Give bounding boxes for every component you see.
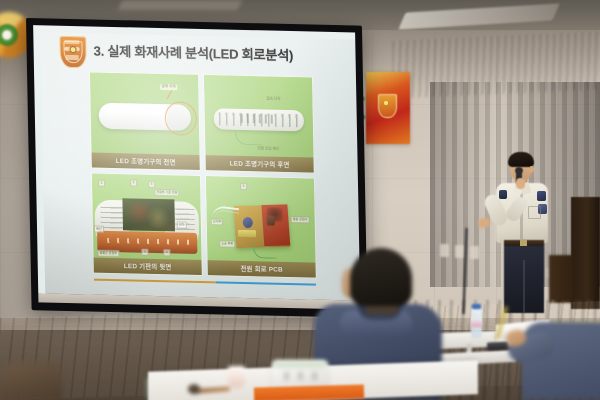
- annotation-label: 배선: [94, 226, 104, 233]
- annotation-label: 단자부: [211, 218, 224, 225]
- annotation-leader-line: [253, 243, 276, 259]
- annotation-label: 용융흔 관찰부: [97, 250, 119, 257]
- small-object: [188, 384, 200, 394]
- shirt-pocket: [528, 206, 541, 219]
- panel-caption: LED 조명기구의 후면: [230, 159, 290, 169]
- annotation-label: 소손 부위: [219, 240, 235, 247]
- panel-caption-bar: LED 조명기구의 전면: [92, 153, 200, 170]
- bottle-cap: [472, 304, 481, 309]
- slide-panel-grid: 발화 부위 LED 조명기구의 전면 접속 단자 전원 인입 배선: [90, 72, 316, 277]
- presenter-hair: [508, 152, 534, 167]
- annotation-label: 단자: [177, 221, 187, 228]
- audience-hair: [350, 248, 412, 306]
- presenter: [488, 148, 566, 313]
- fire-service-shield-emblem-icon: [59, 36, 85, 67]
- panel-caption: 전원 회로 PCB: [240, 264, 283, 274]
- belt-buckle-icon: [520, 240, 527, 246]
- dark-device: [487, 341, 509, 350]
- slide-panel: ① ② ③ 전원부 기판 연결 배선 단자 ④ ⑤ 용융흔 관찰부 LED 기판…: [92, 174, 202, 276]
- wall-switch-plate: [470, 246, 479, 259]
- annotation-label: ④: [141, 249, 148, 256]
- side-cabinet: [571, 197, 600, 309]
- orange-folder: [254, 384, 364, 400]
- banner-shield-emblem-dot-icon: [384, 101, 388, 105]
- panel-caption: LED 기판의 뒷면: [124, 261, 172, 271]
- presenter-left-hand: [516, 178, 525, 189]
- paper-cup: [228, 366, 245, 388]
- tissue-box-pattern: [284, 372, 318, 380]
- annotation-label: 접속 단자: [266, 96, 280, 101]
- microphone-head-icon: [515, 167, 523, 174]
- annotation-label: ①: [240, 183, 247, 190]
- annotation-label: ①: [98, 180, 105, 187]
- slide-title: 3. 실제 화재사례 분석(LED 회로분석): [93, 41, 343, 66]
- shoulder-patch-icon: [499, 190, 507, 199]
- panel-caption-bar: LED 조명기구의 후면: [206, 155, 314, 172]
- panel-caption-bar: LED 기판의 뒷면: [94, 258, 202, 275]
- banner-shield-icon: [378, 94, 397, 118]
- annotation-label: ⑤: [163, 249, 170, 256]
- bottle-label: [471, 318, 482, 327]
- annotation-label: ③: [148, 181, 155, 188]
- annotation-label: 평활 콘덴서: [291, 216, 310, 223]
- component-yellow: [238, 230, 256, 237]
- audience-member-far-left: [0, 352, 62, 400]
- tissue-box-top: [274, 360, 326, 368]
- annotation-circle-icon: [165, 101, 198, 136]
- capacitor-component: [243, 217, 253, 228]
- component: [267, 216, 275, 226]
- slide-panel: 접속 단자 전원 인입 배선 LED 조명기구의 후면: [204, 75, 314, 173]
- panel-caption: LED 조명기구의 전면: [116, 156, 176, 166]
- annotation-label: 발화 부위: [160, 84, 177, 90]
- annotation-label: ②: [130, 179, 137, 186]
- lecture-room-photo: 대 지 3. 실제 화재사례 분석(LED 회로분석): [0, 0, 600, 400]
- ceiling-light-panel-secondary: [118, 0, 242, 10]
- audience-member-right: [508, 300, 600, 400]
- slide-accent-bar: [94, 278, 316, 285]
- annotation-label: 전원부 기판 연결: [154, 189, 179, 196]
- shoulder-patch-icon: [537, 191, 546, 201]
- annotation-label: 전원 인입 배선: [257, 146, 279, 151]
- slide-panel: 발화 부위 LED 조명기구의 전면: [90, 72, 200, 170]
